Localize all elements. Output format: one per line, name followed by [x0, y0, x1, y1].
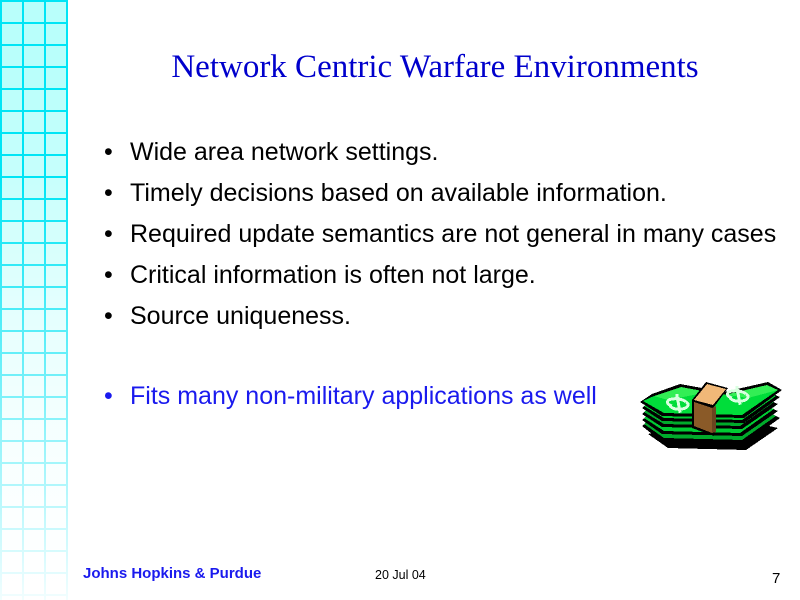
grid-cell: [24, 420, 44, 440]
grid-cell: [24, 486, 44, 506]
grid-cell: [2, 310, 22, 330]
grid-cell: [46, 332, 66, 352]
grid-cell: [24, 508, 44, 528]
grid-cell: [46, 200, 66, 220]
grid-cell: [2, 442, 22, 462]
grid-cell: [2, 486, 22, 506]
grid-cell: [2, 156, 22, 176]
list-item: • Critical information is often not larg…: [96, 255, 786, 296]
grid-cell: [24, 178, 44, 198]
list-item-label: Wide area network settings.: [130, 132, 786, 173]
grid-cell: [24, 552, 44, 572]
grid-cell: [2, 244, 22, 264]
grid-cell: [2, 596, 22, 600]
grid-cell: [2, 508, 22, 528]
bullet-list: • Wide area network settings. • Timely d…: [96, 132, 786, 417]
grid-cell: [2, 178, 22, 198]
bullet-dot-icon: •: [104, 255, 113, 296]
slide-canvas: Network Centric Warfare Environments • W…: [0, 0, 800, 600]
footer-date: 20 Jul 04: [375, 568, 426, 582]
grid-cell: [2, 530, 22, 550]
grid-cell: [2, 420, 22, 440]
grid-cell: [2, 354, 22, 374]
grid-cell: [46, 90, 66, 110]
list-item: • Timely decisions based on available in…: [96, 173, 786, 214]
grid-cell: [46, 24, 66, 44]
list-item-label: Source uniqueness.: [130, 296, 786, 337]
list-item-label: Required update semantics are not genera…: [130, 214, 786, 255]
grid-cell: [24, 310, 44, 330]
grid-cell: [46, 244, 66, 264]
grid-cell: [46, 508, 66, 528]
grid-cell: [24, 200, 44, 220]
grid-cell: [24, 332, 44, 352]
grid-cell: [2, 552, 22, 572]
grid-cell: [46, 310, 66, 330]
grid-cell: [2, 574, 22, 594]
grid-cell: [24, 156, 44, 176]
grid-cell: [2, 398, 22, 418]
grid-cell: [46, 46, 66, 66]
grid-cell: [46, 464, 66, 484]
cyan-grid-band: [0, 0, 68, 600]
grid-cell: [46, 574, 66, 594]
grid-cell: [2, 24, 22, 44]
grid-cell: [24, 24, 44, 44]
grid-cell: [46, 156, 66, 176]
grid-cell: [2, 90, 22, 110]
grid-cell: [46, 376, 66, 396]
grid-cell: [24, 68, 44, 88]
bullet-dot-icon: •: [104, 296, 113, 337]
grid-cell: [24, 376, 44, 396]
slide-title: Network Centric Warfare Environments: [90, 46, 780, 88]
grid-cell: [24, 354, 44, 374]
grid-cell: [46, 398, 66, 418]
grid-cell: [2, 376, 22, 396]
grid-cell: [2, 266, 22, 286]
grid-cell: [46, 420, 66, 440]
bullet-spacer: [96, 337, 786, 376]
grid-cell: [2, 46, 22, 66]
list-item: • Source uniqueness.: [96, 296, 786, 337]
grid-cell: [2, 112, 22, 132]
grid-cell: [24, 288, 44, 308]
grid-cell: [24, 530, 44, 550]
grid-cell: [46, 68, 66, 88]
grid-cell: [2, 134, 22, 154]
grid-cell: [2, 332, 22, 352]
grid-cell: [24, 266, 44, 286]
money-stack-icon: [628, 378, 784, 460]
bullet-dot-icon: •: [104, 214, 113, 255]
grid-cell: [24, 574, 44, 594]
bullet-dot-icon: •: [104, 376, 113, 417]
bullet-dot-icon: •: [104, 173, 113, 214]
grid-cell: [24, 442, 44, 462]
grid-cell: [46, 112, 66, 132]
grid-cell: [2, 288, 22, 308]
grid-cell: [24, 134, 44, 154]
grid-cell: [46, 354, 66, 374]
grid-cell: [24, 90, 44, 110]
grid-cell: [24, 244, 44, 264]
grid-cell: [46, 2, 66, 22]
grid-cell: [46, 530, 66, 550]
grid-cells: [0, 0, 68, 600]
grid-cell: [46, 288, 66, 308]
grid-cell: [2, 2, 22, 22]
grid-cell: [46, 596, 66, 600]
grid-cell: [2, 68, 22, 88]
grid-cell: [46, 442, 66, 462]
bullet-dot-icon: •: [104, 132, 113, 173]
grid-cell: [24, 46, 44, 66]
grid-cell: [24, 2, 44, 22]
grid-cell: [24, 112, 44, 132]
grid-cell: [24, 596, 44, 600]
grid-cell: [46, 134, 66, 154]
grid-cell: [24, 222, 44, 242]
footer-organization: Johns Hopkins & Purdue: [83, 565, 261, 582]
grid-cell: [46, 222, 66, 242]
list-item: • Wide area network settings.: [96, 132, 786, 173]
list-item-label: Critical information is often not large.: [130, 255, 786, 296]
grid-cell: [2, 222, 22, 242]
list-item: • Required update semantics are not gene…: [96, 214, 786, 255]
grid-cell: [24, 464, 44, 484]
grid-cell: [46, 178, 66, 198]
list-item-label: Timely decisions based on available info…: [130, 173, 786, 214]
footer-page-number: 7: [772, 570, 780, 587]
grid-cell: [2, 464, 22, 484]
grid-cell: [2, 200, 22, 220]
grid-cell: [46, 266, 66, 286]
grid-cell: [46, 552, 66, 572]
grid-cell: [24, 398, 44, 418]
grid-cell: [46, 486, 66, 506]
